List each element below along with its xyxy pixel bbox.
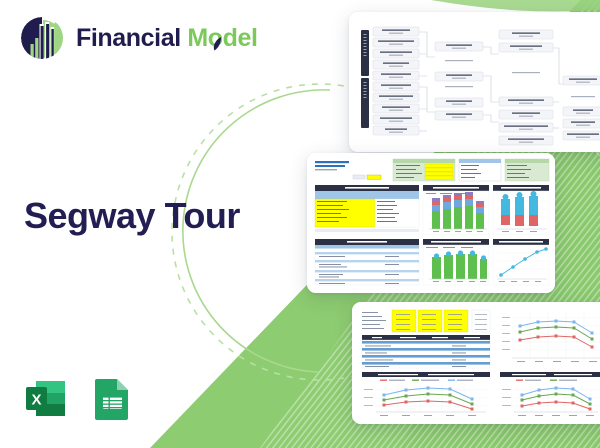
leaf-accent-icon <box>213 31 222 45</box>
google-sheets-icon[interactable] <box>89 375 136 422</box>
cash-flow-chart <box>423 239 489 285</box>
brand-name-part1: Financial <box>76 24 181 52</box>
profitability-chart <box>493 185 549 235</box>
circle-bar-chart-icon <box>20 16 64 60</box>
brand-logo: Financial Model <box>20 16 258 60</box>
chart-legend <box>380 380 473 381</box>
brand-name-part2: Model <box>187 24 257 52</box>
line-charts-card[interactable] <box>352 302 600 424</box>
revenue-breakdown-chart <box>423 185 489 235</box>
investment-payback-chart <box>493 239 549 285</box>
slide-canvas: Financial Model Segway Tour X <box>0 0 600 448</box>
dashboard-card[interactable] <box>307 153 555 293</box>
cost-analysis-table <box>315 185 419 232</box>
svg-text:X: X <box>31 392 41 409</box>
excel-icon[interactable]: X <box>22 375 69 422</box>
file-format-icons: X <box>22 375 136 422</box>
assumption-panels <box>393 159 549 181</box>
brand-wordmark: Financial Model <box>76 26 258 51</box>
page-title: Segway Tour <box>24 196 240 236</box>
dupont-tree-card[interactable] <box>349 12 600 152</box>
core-financials-table <box>315 239 419 285</box>
